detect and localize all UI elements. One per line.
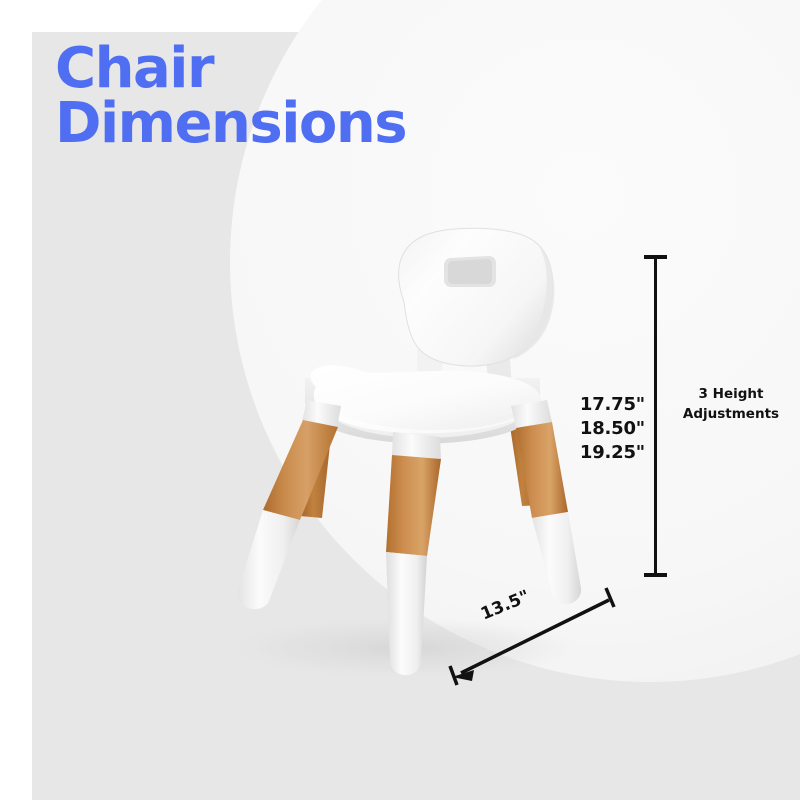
infographic-canvas: Chair Dimensions [0, 0, 800, 800]
depth-cap-left [450, 666, 457, 685]
depth-dimension [0, 0, 800, 800]
depth-cap-right [606, 588, 614, 607]
